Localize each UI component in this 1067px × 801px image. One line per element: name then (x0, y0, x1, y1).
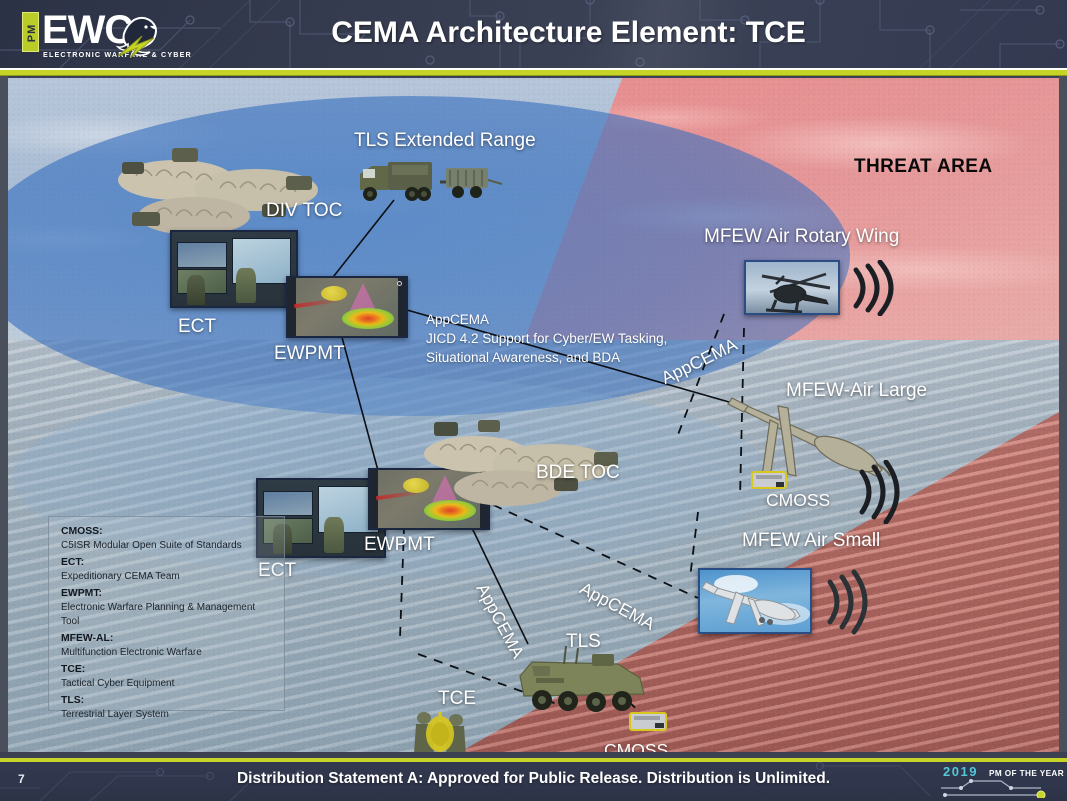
distribution-statement: Distribution Statement A: Approved for P… (0, 770, 1067, 788)
legend-definition: Expeditionary CEMA Team (61, 570, 274, 584)
node-label-mfew-rotary: MFEW Air Rotary Wing (704, 226, 899, 248)
ewpmt-map-image (288, 278, 406, 336)
legend-term: MFEW-AL: (61, 632, 274, 646)
legend-entry: ECT: Expeditionary CEMA Team (61, 556, 274, 584)
legend-term: CMOSS: (61, 525, 274, 539)
helicopter-icon (746, 262, 840, 315)
appcema-note-line1: AppCEMA (426, 310, 667, 329)
legend-term: EWPMT: (61, 587, 274, 601)
cmoss-module-tls-icon (628, 706, 672, 736)
appcema-note-line2: JICD 4.2 Support for Cyber/EW Tasking, (426, 329, 667, 348)
slide-left-gutter (0, 76, 8, 758)
appcema-note: AppCEMA JICD 4.2 Support for Cyber/EW Ta… (426, 310, 667, 367)
acronym-legend: CMOSS: C5ISR Modular Open Suite of Stand… (48, 516, 285, 711)
node-label-ect-div: ECT (178, 316, 216, 338)
legend-definition: Multifunction Electronic Warfare (61, 646, 274, 660)
tce-soldiers-icon (406, 706, 496, 758)
node-label-cmoss-mfew-large: CMOSS (766, 490, 830, 511)
badge-circuit-icon (937, 778, 1055, 798)
legend-definition: Tactical Cyber Equipment (61, 677, 274, 691)
legend-entry: CMOSS: C5ISR Modular Open Suite of Stand… (61, 525, 274, 553)
badge-label: PM OF THE YEAR (989, 769, 1064, 778)
legend-term: TCE: (61, 663, 274, 677)
slide-header: PM EWC ELECTRONIC WARFARE & CYBER CEMA A… (0, 0, 1067, 68)
architecture-diagram: DIV TOC TLS Extended Range AppCEMA (8, 78, 1059, 758)
legend-entry: TCE: Tactical Cyber Equipment (61, 663, 274, 691)
ewpmt-div-thumbnail[interactable] (286, 276, 408, 338)
node-label-mfew-small: MFEW Air Small (742, 530, 880, 552)
legend-definition: Terrestrial Layer System (61, 708, 274, 722)
ect-div-thumbnail[interactable] (170, 230, 298, 308)
threat-area-label: THREAT AREA (854, 156, 992, 178)
pm-of-the-year-badge: 2019 PM OF THE YEAR (937, 764, 1055, 796)
rf-signal-arcs-large-icon (856, 460, 910, 524)
node-label-div-toc: DIV TOC (266, 200, 342, 222)
node-label-ewpmt-div: EWPMT (274, 343, 345, 365)
node-label-tls-extended-range: TLS Extended Range (354, 130, 536, 152)
legend-term: ECT: (61, 556, 274, 570)
node-label-bde-toc: BDE TOC (536, 462, 620, 484)
header-accent-rule (0, 68, 1067, 76)
legend-term: TLS: (61, 694, 274, 708)
tls-er-vehicle-icon (354, 156, 504, 208)
appcema-note-line3: Situational Awareness, and BDA (426, 348, 667, 367)
legend-definition: Electronic Warfare Planning & Management… (61, 601, 274, 629)
ect-console-image (172, 232, 296, 306)
small-uav-image (700, 570, 810, 632)
rf-signal-arcs-rotary-icon (850, 260, 902, 316)
rf-signal-arcs-small-icon (824, 568, 876, 636)
slide-footer: 7 Distribution Statement A: Approved for… (0, 758, 1067, 801)
helicopter-image (746, 262, 838, 313)
legend-entry: MFEW-AL: Multifunction Electronic Warfar… (61, 632, 274, 660)
small-uav-icon (700, 570, 812, 634)
legend-entry: TLS: Terrestrial Layer System (61, 694, 274, 722)
slide-right-gutter (1059, 76, 1067, 758)
node-label-ewpmt-bde: EWPMT (364, 534, 435, 556)
slide: PM EWC ELECTRONIC WARFARE & CYBER CEMA A… (0, 0, 1067, 801)
legend-entry: EWPMT: Electronic Warfare Planning & Man… (61, 587, 274, 629)
mfew-rotary-thumbnail[interactable] (744, 260, 840, 315)
legend-definition: C5ISR Modular Open Suite of Standards (61, 539, 274, 553)
page-title: CEMA Architecture Element: TCE (0, 16, 1067, 50)
mfew-small-thumbnail[interactable] (698, 568, 812, 634)
badge-year: 2019 (943, 764, 978, 779)
